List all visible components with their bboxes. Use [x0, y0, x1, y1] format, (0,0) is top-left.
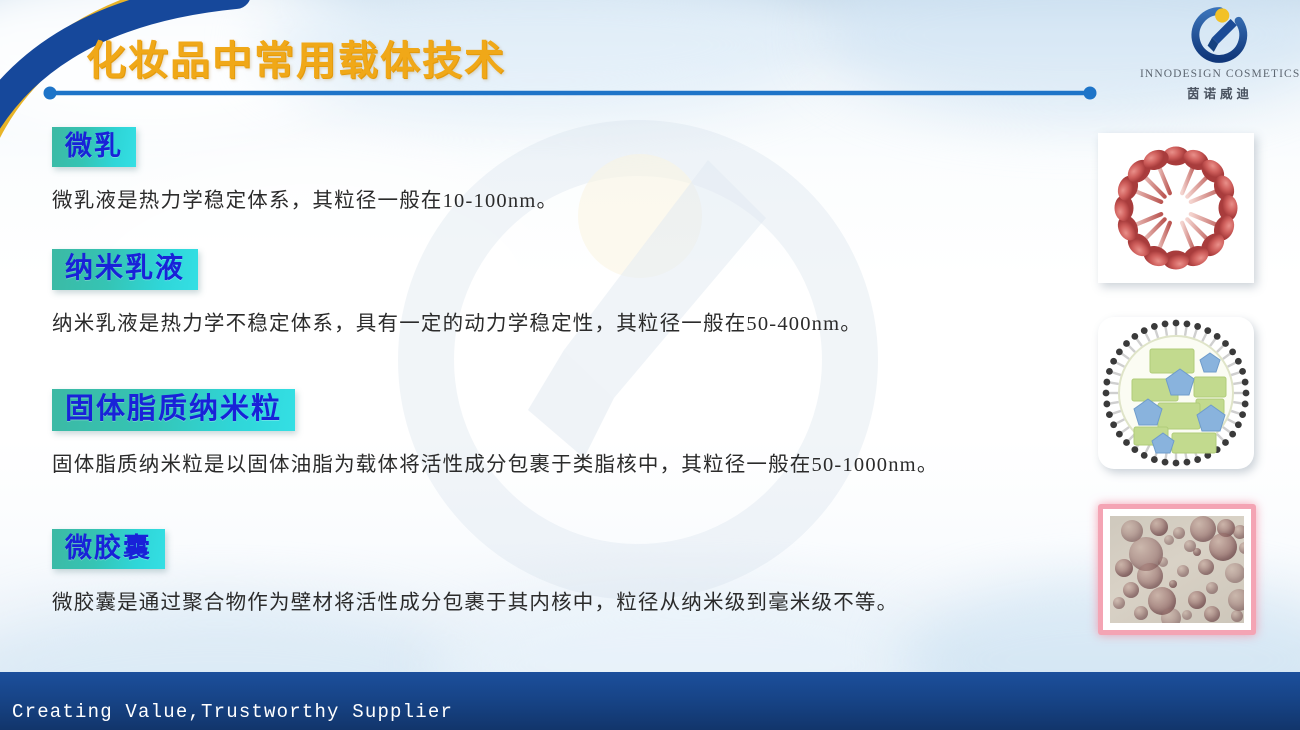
microcapsule-particle [1177, 565, 1189, 577]
section-microemulsion: 微乳 微乳液是热力学稳定体系，其粒径一般在10-100nm。 [52, 127, 558, 213]
innodesign-circle-logo-icon [1189, 4, 1251, 66]
microcapsule-particle [1169, 580, 1177, 588]
section-nanoemulsion: 纳米乳液 纳米乳液是热力学不稳定体系，具有一定的动力学稳定性，其粒径一般在50-… [52, 249, 862, 336]
microcapsule-particle [1164, 535, 1174, 545]
microcapsule-particle [1209, 533, 1237, 561]
microcapsule-particle [1161, 608, 1181, 623]
microcapsule-particle [1134, 606, 1148, 620]
micelle-diagram-image [1098, 133, 1254, 283]
brand-name-en: INNODESIGN COSMETICS [1140, 68, 1300, 80]
microcapsule-particle [1188, 591, 1206, 609]
title-divider-rule [40, 84, 1100, 102]
section-tag-label: 固体脂质纳米粒 [52, 389, 295, 431]
microcapsule-particle [1158, 557, 1168, 567]
microcapsule-particle [1225, 563, 1244, 583]
section-microcapsule: 微胶囊 微胶囊是通过聚合物作为壁材将活性成分包裹于其内核中，粒径从纳米级到毫米级… [52, 529, 898, 615]
page-title: 化妆品中常用载体技术 [86, 28, 506, 86]
microcapsule-particle [1115, 559, 1133, 577]
microcapsule-micrograph-image [1098, 504, 1256, 635]
section-body-text: 微胶囊是通过聚合物作为壁材将活性成分包裹于其内核中，粒径从纳米级到毫米级不等。 [52, 585, 898, 615]
solid-lipid-nanoparticle-icon [1098, 317, 1254, 469]
microcapsule-particle [1239, 542, 1244, 554]
section-body-text: 微乳液是热力学稳定体系，其粒径一般在10-100nm。 [52, 183, 558, 213]
section-tag-label: 纳米乳液 [52, 249, 198, 290]
microcapsule-particle [1137, 563, 1163, 589]
section-body-text: 纳米乳液是热力学不稳定体系，具有一定的动力学稳定性，其粒径一般在50-400nm… [52, 306, 862, 336]
microcapsule-particle [1182, 610, 1192, 620]
microcapsule-particle [1150, 518, 1168, 536]
microcapsule-particle [1204, 606, 1220, 622]
microcapsule-particle [1173, 527, 1185, 539]
microcapsule-particle [1228, 589, 1244, 611]
slide-canvas: 化妆品中常用载体技术 INNODESIGN COSMETICS 茵诺威迪 微乳 … [0, 0, 1300, 730]
microcapsule-particle [1193, 548, 1201, 556]
microcapsule-particle [1113, 597, 1125, 609]
section-tag-label: 微胶囊 [52, 529, 165, 569]
section-body-text: 固体脂质纳米粒是以固体油脂为载体将活性成分包裹于类脂核中，其粒径一般在50-10… [52, 447, 939, 477]
solid-lipid-nanoparticle-diagram-image [1098, 317, 1254, 469]
microcapsule-particle [1233, 525, 1244, 539]
photo-mat [1103, 509, 1251, 630]
brand-logo: INNODESIGN COSMETICS 茵诺威迪 [1140, 4, 1300, 112]
section-solid-lipid-nanoparticle: 固体脂质纳米粒 固体脂质纳米粒是以固体油脂为载体将活性成分包裹于类脂核中，其粒径… [52, 389, 939, 477]
micelle-diagram-icon [1098, 133, 1254, 283]
footer-bar: Creating Value,Trustworthy Supplier [0, 672, 1300, 730]
microcapsule-photo [1110, 516, 1244, 623]
brand-name-cn: 茵诺威迪 [1140, 83, 1300, 102]
section-tag-label: 微乳 [52, 127, 136, 167]
microcapsule-particle [1231, 610, 1243, 622]
footer-tagline: Creating Value,Trustworthy Supplier [12, 701, 453, 723]
microcapsule-particle [1198, 559, 1214, 575]
microcapsule-particle [1206, 582, 1218, 594]
microcapsule-particle [1123, 582, 1139, 598]
